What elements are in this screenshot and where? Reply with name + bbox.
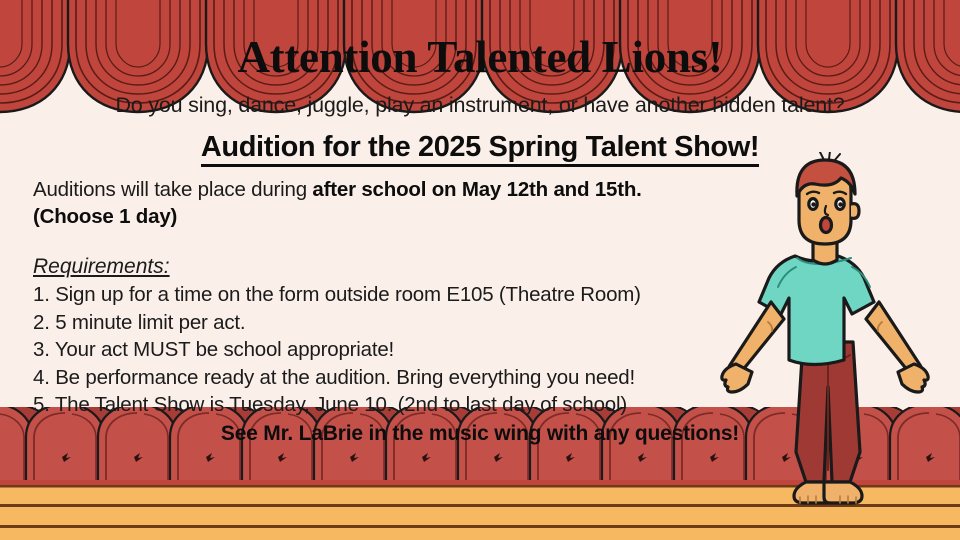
choose-one-day-note: (Choose 1 day): [33, 205, 177, 228]
audition-heading-text: Audition for the 2025 Spring Talent Show…: [201, 131, 759, 167]
list-item: 3. Your act MUST be school appropriate!: [33, 336, 778, 364]
requirements-label: Requirements:: [33, 254, 170, 280]
audition-dates-paragraph: Auditions will take place during after s…: [33, 176, 793, 230]
audition-dates-prefix: Auditions will take place during: [33, 178, 312, 201]
list-item: 5. The Talent Show is Tuesday, June 10. …: [33, 391, 778, 419]
contact-footer: See Mr. LaBrie in the music wing with an…: [0, 420, 960, 448]
talent-show-poster: Attention Talented Lions! Do you sing, d…: [0, 0, 960, 540]
poster-subtitle: Do you sing, dance, juggle, play an inst…: [0, 92, 960, 118]
audition-dates-bold: after school on May 12th and 15th.: [312, 178, 641, 201]
list-item: 4. Be performance ready at the audition.…: [33, 364, 778, 392]
list-item: 1. Sign up for a time on the form outsid…: [33, 281, 778, 309]
audition-heading: Audition for the 2025 Spring Talent Show…: [0, 129, 960, 165]
page-title: Attention Talented Lions!: [0, 32, 960, 82]
poster-text-content: Attention Talented Lions! Do you sing, d…: [0, 0, 960, 540]
list-item: 2. 5 minute limit per act.: [33, 309, 778, 337]
requirements-list: 1. Sign up for a time on the form outsid…: [33, 281, 778, 419]
